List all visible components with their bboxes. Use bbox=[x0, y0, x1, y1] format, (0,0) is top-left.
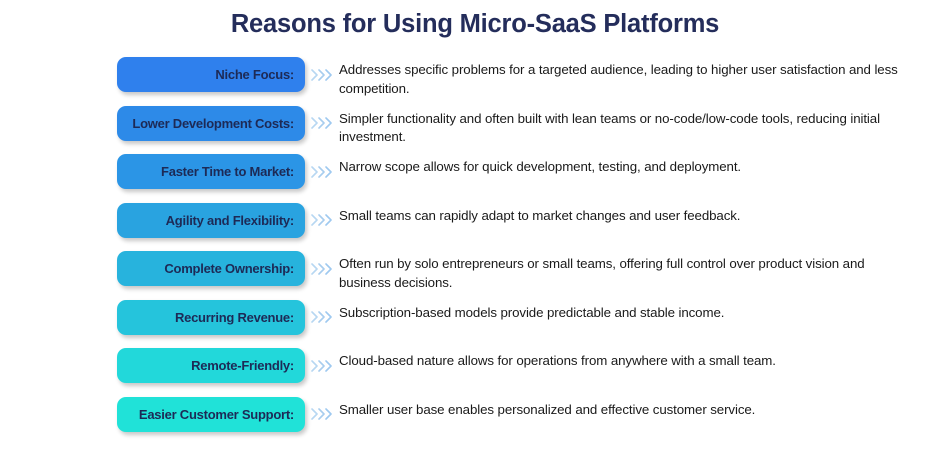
reason-pill[interactable]: Complete Ownership: bbox=[117, 251, 305, 286]
reason-label: Niche Focus: bbox=[215, 67, 294, 82]
triple-chevron-right-icon bbox=[309, 300, 335, 335]
triple-chevron-right-icon bbox=[309, 203, 335, 238]
reason-pill[interactable]: Remote-Friendly: bbox=[117, 348, 305, 383]
reason-pill[interactable]: Faster Time to Market: bbox=[117, 154, 305, 189]
page-title: Reasons for Using Micro-SaaS Platforms bbox=[0, 10, 950, 39]
list-item: Faster Time to Market: Narrow scope allo… bbox=[117, 152, 937, 201]
triple-chevron-right-icon bbox=[309, 348, 335, 383]
reason-description: Subscription-based models provide predic… bbox=[339, 298, 724, 323]
reason-description: Narrow scope allows for quick developmen… bbox=[339, 152, 741, 177]
list-item: Niche Focus: Addresses specific problems… bbox=[117, 55, 937, 104]
reason-pill[interactable]: Recurring Revenue: bbox=[117, 300, 305, 335]
list-item: Remote-Friendly: Cloud-based nature allo… bbox=[117, 346, 937, 395]
reason-pill[interactable]: Lower Development Costs: bbox=[117, 106, 305, 141]
list-item: Recurring Revenue: Subscription-based mo… bbox=[117, 298, 937, 347]
triple-chevron-right-icon bbox=[309, 154, 335, 189]
reason-label: Complete Ownership: bbox=[164, 261, 294, 276]
triple-chevron-right-icon bbox=[309, 397, 335, 432]
list-item: Easier Customer Support: Smaller user ba… bbox=[117, 395, 937, 444]
triple-chevron-right-icon bbox=[309, 251, 335, 286]
reason-description: Smaller user base enables personalized a… bbox=[339, 395, 755, 420]
triple-chevron-right-icon bbox=[309, 106, 335, 141]
reasons-list: Niche Focus: Addresses specific problems… bbox=[117, 55, 937, 443]
reason-description: Small teams can rapidly adapt to market … bbox=[339, 201, 740, 226]
triple-chevron-right-icon bbox=[309, 57, 335, 92]
reason-description: Often run by solo entrepreneurs or small… bbox=[339, 249, 909, 292]
reason-pill[interactable]: Niche Focus: bbox=[117, 57, 305, 92]
reason-label: Recurring Revenue: bbox=[175, 310, 294, 325]
reason-pill[interactable]: Agility and Flexibility: bbox=[117, 203, 305, 238]
list-item: Agility and Flexibility: Small teams can… bbox=[117, 201, 937, 250]
reason-pill[interactable]: Easier Customer Support: bbox=[117, 397, 305, 432]
reason-label: Faster Time to Market: bbox=[161, 164, 294, 179]
reason-label: Easier Customer Support: bbox=[139, 407, 294, 422]
reason-label: Agility and Flexibility: bbox=[166, 213, 294, 228]
reason-label: Lower Development Costs: bbox=[132, 116, 294, 131]
reason-description: Simpler functionality and often built wi… bbox=[339, 104, 937, 147]
reason-label: Remote-Friendly: bbox=[191, 358, 294, 373]
reason-description: Cloud-based nature allows for operations… bbox=[339, 346, 776, 371]
reason-description: Addresses specific problems for a target… bbox=[339, 55, 909, 98]
infographic-canvas: Reasons for Using Micro-SaaS Platforms N… bbox=[0, 0, 950, 450]
list-item: Lower Development Costs: Simpler functio… bbox=[117, 104, 937, 153]
list-item: Complete Ownership: Often run by solo en… bbox=[117, 249, 937, 298]
